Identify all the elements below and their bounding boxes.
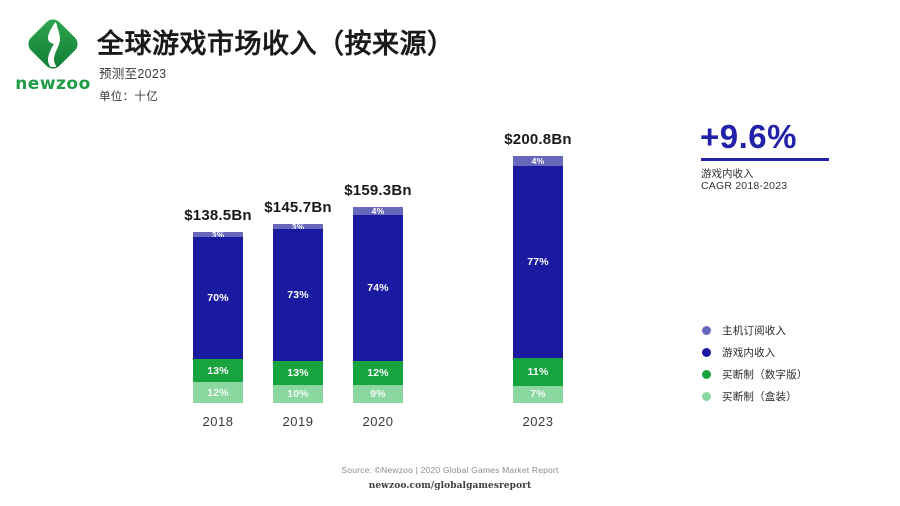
legend-item-0[interactable]: 主机订阅收入 bbox=[702, 320, 808, 340]
legend-label-3: 买断制（盒装） bbox=[722, 389, 797, 404]
bar-total-label-2023: $200.8Bn bbox=[468, 131, 608, 148]
bar-segment-2018-3: 12% bbox=[193, 382, 243, 403]
chart-legend: 主机订阅收入游戏内收入买断制（数字版）买断制（盒装） bbox=[702, 320, 808, 408]
bar-segment-2020-2: 12% bbox=[353, 361, 403, 385]
legend-item-1[interactable]: 游戏内收入 bbox=[702, 342, 808, 362]
legend-item-2[interactable]: 买断制（数字版） bbox=[702, 364, 808, 384]
source-note: Source: ©Newzoo | 2020 Global Games Mark… bbox=[0, 465, 900, 475]
bar-2020: 4%74%12%9% bbox=[353, 207, 403, 403]
bar-segment-2023-1: 77% bbox=[513, 166, 563, 358]
bar-segment-2023-3: 7% bbox=[513, 386, 563, 403]
kpi-underline bbox=[701, 158, 829, 161]
bar-segment-2018-1: 70% bbox=[193, 237, 243, 359]
kpi-value: +9.6% bbox=[700, 118, 797, 156]
bar-segment-2019-2: 13% bbox=[273, 361, 323, 385]
legend-swatch-icon-2 bbox=[702, 370, 711, 379]
bar-segment-2023-2: 11% bbox=[513, 358, 563, 385]
bar-total-label-2020: $159.3Bn bbox=[308, 182, 448, 199]
legend-swatch-icon-3 bbox=[702, 392, 711, 401]
bar-segment-2020-3: 9% bbox=[353, 385, 403, 403]
x-axis-label-2023: 2023 bbox=[468, 414, 608, 429]
kpi-caption-line2: CAGR 2018-2023 bbox=[701, 180, 787, 192]
slide-root: newzoo 全球游戏市场收入（按来源） 预测至2023 单位：十亿 3%70%… bbox=[0, 0, 900, 506]
legend-item-3[interactable]: 买断制（盒装） bbox=[702, 386, 808, 406]
bar-2023: 4%77%11%7% bbox=[513, 156, 563, 403]
bar-2018: 3%70%13%12% bbox=[193, 232, 243, 403]
bar-segment-2019-1: 73% bbox=[273, 229, 323, 361]
legend-label-0: 主机订阅收入 bbox=[722, 323, 786, 338]
bar-2019: 3%73%13%10% bbox=[273, 224, 323, 403]
stacked-bar-chart: 3%70%13%12%$138.5Bn20183%73%13%10%$145.7… bbox=[0, 0, 660, 506]
bar-segment-2023-0: 4% bbox=[513, 156, 563, 166]
legend-swatch-icon-1 bbox=[702, 348, 711, 357]
legend-label-2: 买断制（数字版） bbox=[722, 367, 808, 382]
legend-swatch-icon-0 bbox=[702, 326, 711, 335]
bar-segment-2018-2: 13% bbox=[193, 359, 243, 382]
legend-label-1: 游戏内收入 bbox=[722, 345, 776, 360]
x-axis-label-2020: 2020 bbox=[308, 414, 448, 429]
bar-total-label-2019: $145.7Bn bbox=[228, 199, 368, 216]
bar-segment-2020-0: 4% bbox=[353, 207, 403, 215]
kpi-caption-line1: 游戏内收入 bbox=[701, 166, 754, 181]
bar-segment-2019-3: 10% bbox=[273, 385, 323, 403]
source-url[interactable]: newzoo.com/globalgamesreport bbox=[0, 481, 900, 491]
bar-segment-2020-1: 74% bbox=[353, 215, 403, 362]
